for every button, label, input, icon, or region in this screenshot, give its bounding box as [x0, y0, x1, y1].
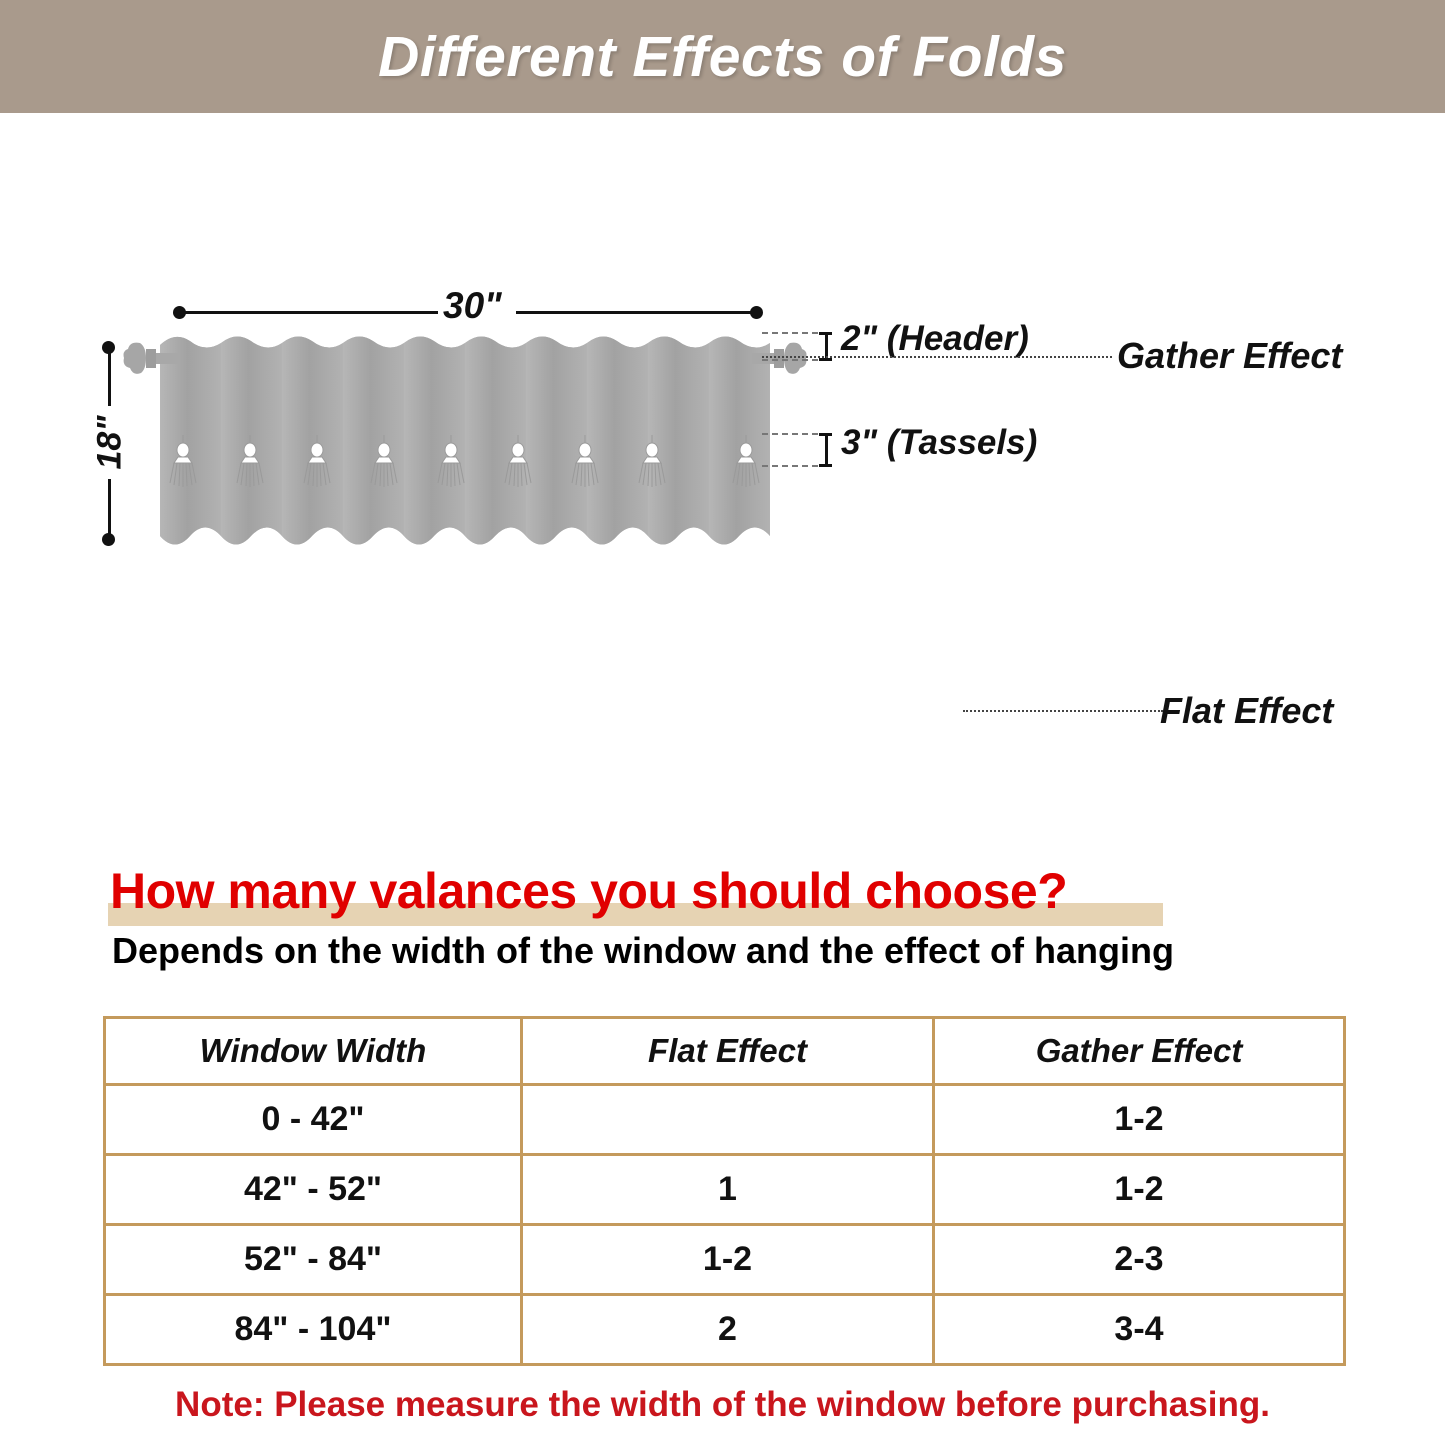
- table-row: 84" - 104" 2 3-4: [105, 1295, 1345, 1365]
- cell-window-width: 52" - 84": [105, 1225, 522, 1295]
- tassels-dimension-label: 3" (Tassels): [841, 423, 1037, 463]
- cell-window-width: 84" - 104": [105, 1295, 522, 1365]
- measure-cap-tassels-top: [819, 433, 832, 436]
- flat-effect-label: Flat Effect: [1160, 690, 1333, 732]
- measure-bar-tassels: [825, 434, 828, 466]
- table-row: 52" - 84" 1-2 2-3: [105, 1225, 1345, 1295]
- header-dimension-label: 2" (Header): [841, 319, 1029, 359]
- dim-line-right-segment: [516, 311, 756, 314]
- page-title: Different Effects of Folds: [0, 0, 1445, 113]
- gather-effect-diagram: 30" 18": [0, 113, 1445, 513]
- cell-gather-effect: 1-2: [934, 1085, 1345, 1155]
- valance-count-table: Window Width Flat Effect Gather Effect 0…: [103, 1016, 1346, 1366]
- cell-flat-effect: [522, 1085, 934, 1155]
- gather-effect-label: Gather Effect: [1117, 335, 1342, 377]
- flat-effect-diagram: 54" Flat Effect: [0, 520, 1445, 850]
- purchase-note: Note: Please measure the width of the wi…: [0, 1385, 1445, 1425]
- column-header-gather-effect: Gather Effect: [934, 1018, 1345, 1085]
- table-header-row: Window Width Flat Effect Gather Effect: [105, 1018, 1345, 1085]
- cell-gather-effect: 3-4: [934, 1295, 1345, 1365]
- question-heading: How many valances you should choose?: [110, 862, 1067, 920]
- vdim-line-top: [108, 348, 111, 406]
- cell-gather-effect: 2-3: [934, 1225, 1345, 1295]
- gather-height-label: 18": [91, 413, 130, 473]
- question-subheading: Depends on the width of the window and t…: [112, 930, 1174, 972]
- tassel-row-gather: [166, 435, 776, 515]
- header-banner: Different Effects of Folds: [0, 0, 1445, 113]
- measure-cap-header-bottom: [819, 358, 832, 361]
- measure-cap-header-top: [819, 332, 832, 335]
- column-header-flat-effect: Flat Effect: [522, 1018, 934, 1085]
- table-row: 42" - 52" 1 1-2: [105, 1155, 1345, 1225]
- column-header-window-width: Window Width: [105, 1018, 522, 1085]
- cell-window-width: 0 - 42": [105, 1085, 522, 1155]
- dim-line-left-segment: [180, 311, 438, 314]
- cell-gather-effect: 1-2: [934, 1155, 1345, 1225]
- cell-flat-effect: 1-2: [522, 1225, 934, 1295]
- leader-gather-effect: [762, 356, 1112, 358]
- measure-cap-tassels-bottom: [819, 464, 832, 467]
- curtain-rod-finial-left: [118, 335, 178, 385]
- cell-flat-effect: 1: [522, 1155, 934, 1225]
- table-row: 0 - 42" 1-2: [105, 1085, 1345, 1155]
- leader-flat-effect: [963, 710, 1163, 712]
- cell-window-width: 42" - 52": [105, 1155, 522, 1225]
- gather-width-label: 30": [443, 285, 502, 327]
- cell-flat-effect: 2: [522, 1295, 934, 1365]
